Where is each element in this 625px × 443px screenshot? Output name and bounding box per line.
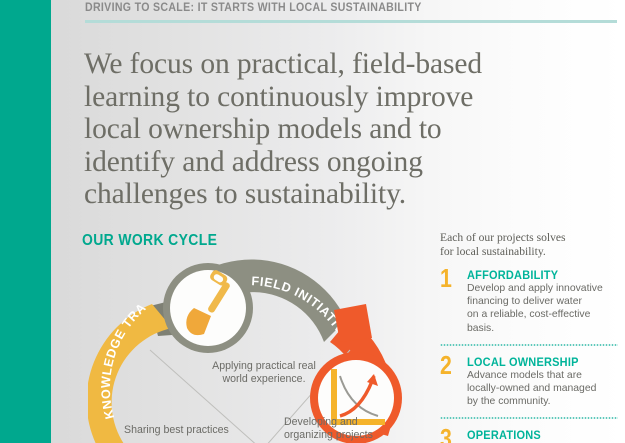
pillar-divider-1: [440, 344, 618, 346]
pillar-item-operations: 3 OPERATIONS: [440, 428, 618, 443]
header-divider-rule: [85, 20, 617, 23]
sidebar-intro-line-1: Each of our projects solves: [440, 231, 618, 245]
sidebar-intro-line-2: for local sustainability.: [440, 245, 618, 259]
cycle-label-left-line-1: Sharing best practices: [124, 424, 274, 437]
pillar-divider-2: [440, 417, 618, 419]
sustainability-pillars-column: Each of our projects solves for local su…: [440, 231, 618, 443]
pillar-body-1-line-1: Develop and apply innovative: [467, 282, 618, 295]
pillar-body-1-line-4: basis.: [467, 322, 618, 335]
cycle-label-top-line-2: world experience.: [184, 373, 344, 386]
cycle-label-left: Sharing best practices: [124, 424, 274, 437]
pillar-item-affordability: 1 AFFORDABILITY Develop and apply innova…: [440, 268, 618, 335]
pillar-body-2-line-1: Advance models that are: [467, 369, 618, 382]
knowledge-transfer-arc: KNOWLEDGE TRANSFER: [88, 258, 172, 443]
pillar-body-2-line-3: by the community.: [467, 395, 618, 408]
pillar-number-2: 2: [440, 352, 452, 378]
pillar-title-2: LOCAL OWNERSHIP: [467, 355, 603, 369]
headline-line-3: local ownership models and to: [84, 113, 504, 146]
pillar-title-1: AFFORDABILITY: [467, 268, 603, 282]
pillar-body-1: Develop and apply innovative financing t…: [467, 282, 618, 335]
cycle-label-right-line-2: organizing projects: [284, 429, 404, 442]
infographic-page: DRIVING TO SCALE: IT STARTS WITH LOCAL S…: [0, 0, 625, 443]
work-cycle-diagram: FIELD INITIATIVES KNOWLEDGE TRANSFER: [88, 258, 428, 443]
cycle-label-top-line-1: Applying practical real: [184, 360, 344, 373]
left-teal-spine: [0, 0, 51, 443]
headline-line-5: challenges to sustainability.: [84, 178, 504, 211]
pillar-body-1-line-3: on a reliable, cost-effective: [467, 308, 618, 321]
headline-line-1: We focus on practical, field-based: [84, 48, 504, 81]
pillar-body-2: Advance models that are locally-owned an…: [467, 369, 618, 409]
cycle-label-right: Developing and organizing projects: [284, 416, 404, 443]
headline-line-2: learning to continuously improve: [84, 81, 504, 114]
sidebar-intro: Each of our projects solves for local su…: [440, 231, 618, 259]
cycle-label-top: Applying practical real world experience…: [184, 360, 344, 387]
page-eyebrow-title: DRIVING TO SCALE: IT STARTS WITH LOCAL S…: [85, 2, 422, 14]
pillar-body-2-line-2: locally-owned and managed: [467, 382, 618, 395]
pillar-number-1: 1: [440, 265, 452, 291]
pillar-body-1-line-2: financing to deliver water: [467, 295, 618, 308]
headline-line-4: identify and address ongoing: [84, 146, 504, 179]
work-cycle-section-title: OUR WORK CYCLE: [82, 232, 217, 250]
page-headline: We focus on practical, field-based learn…: [84, 48, 504, 211]
pillar-number-3: 3: [440, 425, 452, 443]
shovel-icon-node: [163, 263, 253, 353]
pillar-title-3: OPERATIONS: [467, 428, 603, 442]
cycle-label-right-line-1: Developing and: [284, 416, 404, 429]
pillar-item-local-ownership: 2 LOCAL OWNERSHIP Advance models that ar…: [440, 355, 618, 409]
